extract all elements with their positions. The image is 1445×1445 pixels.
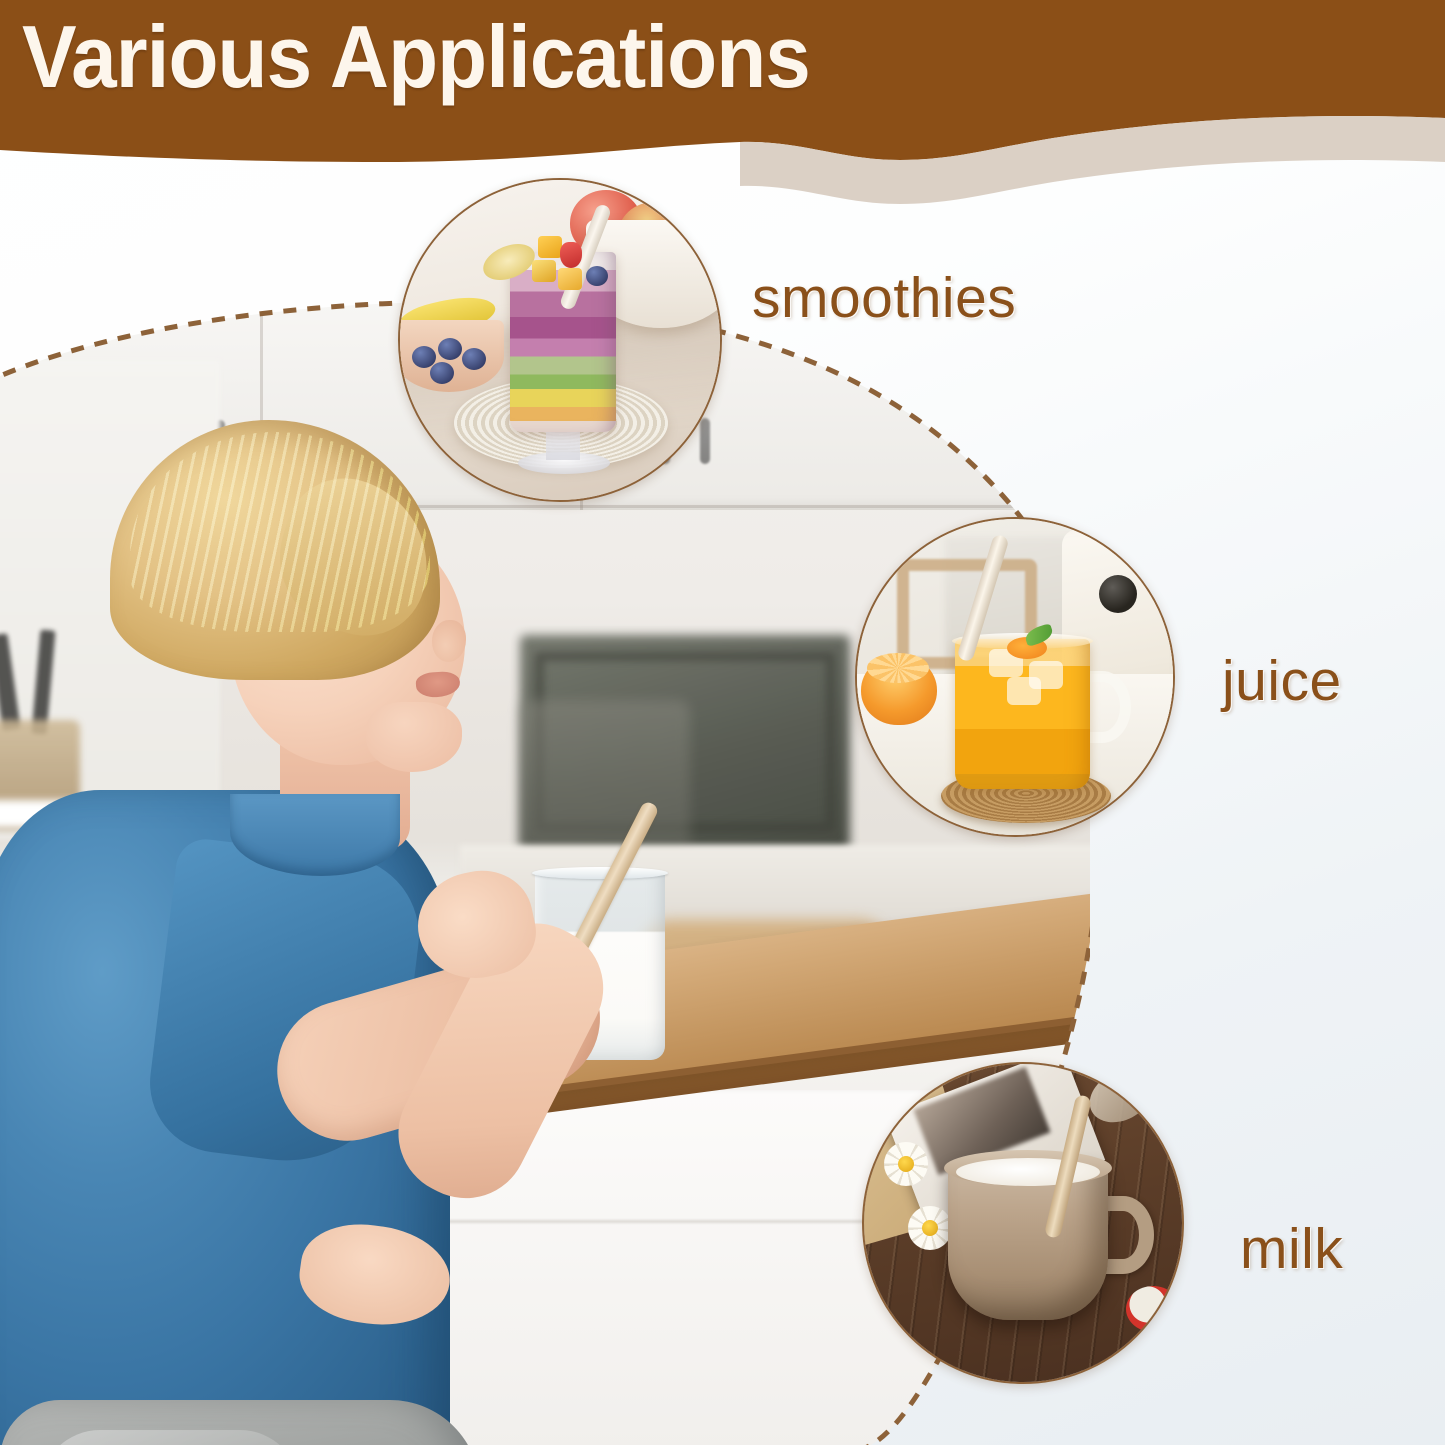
smoothies-scene	[400, 180, 720, 500]
ice-cube	[1007, 677, 1041, 705]
inset-circle-milk[interactable]	[862, 1062, 1184, 1384]
infographic-canvas: Various Applications	[0, 0, 1445, 1445]
milk-surface	[956, 1158, 1100, 1186]
mango-cube	[558, 268, 582, 290]
blueberry-icon	[462, 348, 486, 370]
mango-cube	[538, 236, 562, 258]
blueberry-icon	[586, 266, 608, 286]
red-object	[1126, 1286, 1180, 1332]
mango-cube	[532, 260, 556, 282]
label-juice: juice	[1222, 648, 1342, 714]
blueberry-icon	[438, 338, 462, 360]
daisy-icon	[884, 1142, 928, 1186]
milk-scene	[864, 1064, 1182, 1382]
chin	[366, 702, 462, 772]
juice-scene: JUMI	[857, 519, 1173, 835]
inset-circle-smoothies[interactable]	[398, 178, 722, 502]
appliance-knob	[1099, 575, 1137, 613]
strawberry-icon	[560, 242, 582, 268]
boy-subject	[0, 420, 540, 1445]
label-smoothies: smoothies	[752, 265, 1016, 331]
inset-circle-juice[interactable]: JUMI	[855, 517, 1175, 837]
blueberry-icon	[430, 362, 454, 384]
lips	[415, 670, 461, 698]
glass-rim	[532, 867, 668, 879]
daisy-icon	[908, 1206, 952, 1250]
orange-flesh	[867, 653, 929, 683]
label-milk: milk	[1240, 1216, 1343, 1282]
